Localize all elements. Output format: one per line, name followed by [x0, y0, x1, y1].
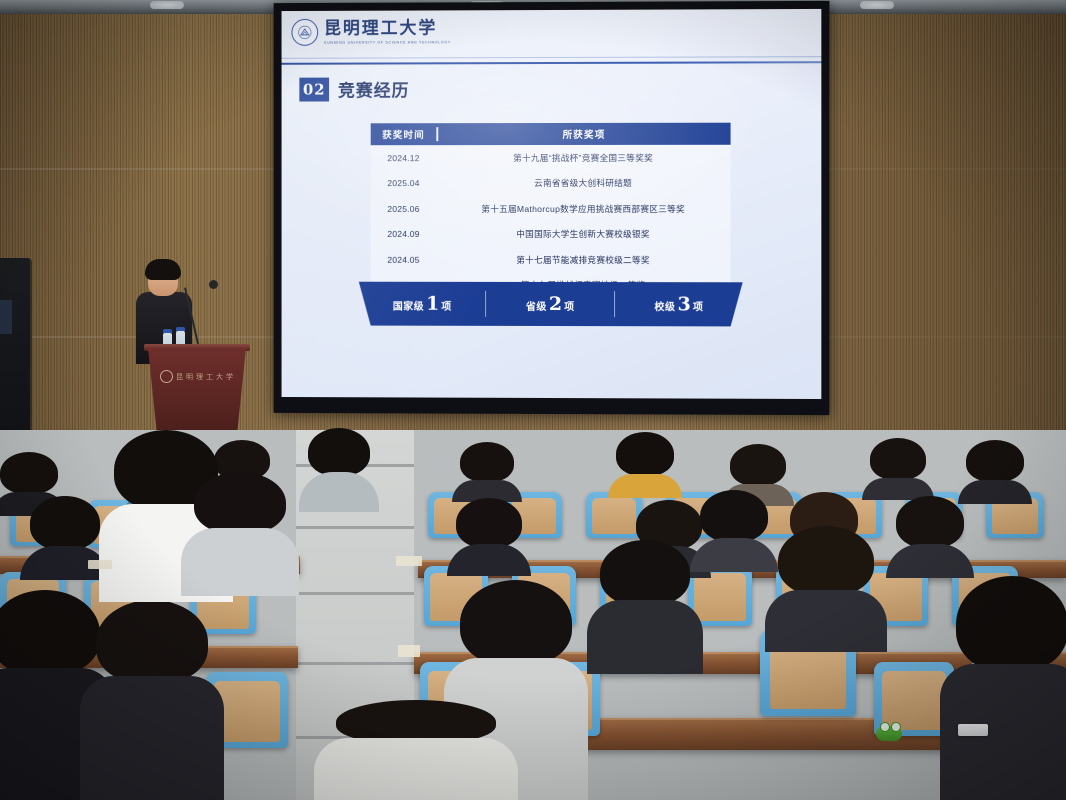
hair-part — [600, 540, 690, 606]
hair-part — [456, 498, 522, 548]
hair-part — [870, 438, 926, 480]
audience-member — [966, 440, 1024, 500]
aisle-step — [296, 662, 414, 665]
awards-table: 获奖时间 所获奖项 2024.12 第十九届“挑战杯”竞赛全国三等奖奖 2025… — [371, 123, 731, 299]
hair-part — [616, 432, 674, 476]
audience-member — [778, 526, 874, 648]
column-header-date: 获奖时间 — [371, 127, 439, 141]
lecture-hall-photo: 昆明理工大学 KUNMING UNIVERSITY OF SCIENCE AND… — [0, 0, 1066, 800]
shoulders-part — [886, 544, 973, 578]
hair-part — [0, 590, 100, 676]
section-number-badge: 02 — [299, 77, 329, 101]
university-name-cn: 昆明理工大学 — [324, 18, 437, 38]
hair-part — [778, 526, 874, 596]
cell-award: 中国国际大学生创新大赛校级银奖 — [436, 228, 730, 240]
summary-item-provincial: 省级 2 项 — [486, 293, 613, 315]
shoulders-part — [447, 544, 531, 576]
pad-part — [592, 498, 637, 535]
cell-award: 第十九届“挑战杯”竞赛全国三等奖奖 — [436, 152, 730, 164]
ceiling-light-icon — [860, 1, 894, 9]
summary-ribbon: 国家级 1 项 省级 2 项 校级 3 项 — [359, 282, 743, 327]
podium-crest-icon — [160, 370, 173, 383]
cell-date: 2024.09 — [371, 229, 437, 239]
hair-part — [896, 496, 964, 548]
summary-label: 国家级 — [393, 298, 424, 313]
summary-unit: 项 — [441, 298, 451, 313]
table-row: 2024.05 第十七届节能减排竞赛校级二等奖 — [371, 247, 731, 273]
audience-member — [870, 438, 926, 496]
summary-item-national: 国家级 1 项 — [359, 293, 486, 315]
cell-date: 2024.05 — [371, 255, 437, 265]
university-seal-icon — [291, 19, 318, 46]
aisle-step — [296, 592, 414, 595]
audience-member — [700, 490, 768, 566]
university-name-en: KUNMING UNIVERSITY OF SCIENCE AND TECHNO… — [324, 40, 451, 44]
section-heading: 02 竞赛经历 — [299, 76, 409, 101]
ceiling-light-icon — [150, 1, 184, 9]
table-row: 2025.06 第十五届Mathorcup数学应用挑战赛西部赛区三等奖 — [371, 196, 731, 222]
hair-part — [460, 442, 514, 482]
hair-part — [308, 428, 370, 476]
hair-part — [730, 444, 786, 486]
shoulders-part — [608, 474, 682, 498]
hair-part — [460, 580, 572, 666]
cell-date: 2024.12 — [371, 153, 437, 163]
audience-member — [456, 498, 522, 570]
shoulders-part — [690, 538, 777, 572]
audience-member — [600, 540, 690, 670]
table-row: 2024.12 第十九届“挑战杯”竞赛全国三等奖奖 — [371, 145, 731, 171]
cell-award: 第十七届节能减排竞赛校级二等奖 — [436, 254, 730, 266]
summary-count: 1 — [426, 293, 439, 315]
pad-part — [214, 681, 280, 742]
seat — [586, 492, 642, 538]
audience-member — [194, 472, 286, 592]
table-body: 2024.12 第十九届“挑战杯”竞赛全国三等奖奖 2025.04 云南省省级大… — [371, 145, 731, 299]
table-header-row: 获奖时间 所获奖项 — [371, 123, 731, 146]
audience-member — [308, 428, 370, 498]
shoulders-part — [958, 480, 1032, 504]
university-logo-text: 昆明理工大学 KUNMING UNIVERSITY OF SCIENCE AND… — [324, 20, 451, 44]
presenter-hair — [145, 259, 181, 280]
summary-unit: 项 — [693, 298, 703, 313]
hair-part — [96, 600, 208, 684]
shoulders-part — [765, 590, 888, 652]
audience-member — [956, 576, 1066, 800]
paper-sheet — [396, 556, 422, 566]
audience-member — [896, 496, 964, 572]
frog-plush-icon — [876, 722, 902, 741]
bottle-cap — [176, 327, 185, 331]
table-row: 2025.04 云南省省级大创科研结题 — [371, 170, 731, 196]
shoulders-part — [314, 738, 519, 800]
summary-label: 校级 — [654, 298, 675, 313]
hair-part — [966, 440, 1024, 482]
hair-part — [194, 472, 286, 534]
summary-count: 3 — [677, 293, 690, 315]
cell-date: 2025.06 — [371, 204, 437, 214]
paper-sheet — [398, 645, 420, 657]
section-title: 竞赛经历 — [338, 76, 409, 101]
white-phone — [958, 724, 988, 736]
aisle-step — [296, 526, 414, 529]
wall-cabinet — [0, 258, 32, 458]
cell-award: 云南省省级大创科研结题 — [436, 177, 730, 189]
audience-member — [336, 700, 496, 800]
summary-count: 2 — [549, 293, 562, 315]
header-rule — [282, 61, 822, 65]
header-rule-thin — [282, 56, 822, 59]
slide-header: 昆明理工大学 KUNMING UNIVERSITY OF SCIENCE AND… — [282, 9, 822, 66]
table-row: 2024.09 中国国际大学生创新大赛校级银奖 — [371, 221, 731, 247]
audience-member — [96, 600, 208, 800]
column-header-award: 所获奖项 — [438, 127, 730, 141]
paper-sheet — [88, 560, 112, 569]
cell-date: 2025.04 — [371, 178, 437, 188]
podium-text: 昆明理工大学 — [176, 372, 236, 382]
projection-screen: 昆明理工大学 KUNMING UNIVERSITY OF SCIENCE AND… — [274, 1, 830, 415]
shoulders-part — [587, 600, 702, 674]
audience-member — [616, 432, 674, 494]
microphone-icon — [209, 280, 218, 289]
summary-unit: 项 — [564, 298, 574, 313]
summary-label: 省级 — [526, 298, 547, 313]
university-logo: 昆明理工大学 KUNMING UNIVERSITY OF SCIENCE AND… — [291, 18, 451, 45]
hair-part — [0, 452, 58, 494]
hair-part — [30, 496, 100, 550]
bottle-cap — [163, 329, 172, 333]
shoulders-part — [181, 528, 299, 596]
audience-member — [460, 442, 514, 498]
shoulders-part — [80, 676, 223, 800]
hair-part — [700, 490, 768, 542]
hair-part — [956, 576, 1066, 672]
presentation-slide: 昆明理工大学 KUNMING UNIVERSITY OF SCIENCE AND… — [282, 9, 822, 399]
summary-item-school: 校级 3 项 — [615, 293, 743, 315]
cell-award: 第十五届Mathorcup数学应用挑战赛西部赛区三等奖 — [436, 203, 730, 215]
pad-part — [694, 573, 745, 621]
shoulders-part — [299, 472, 378, 512]
